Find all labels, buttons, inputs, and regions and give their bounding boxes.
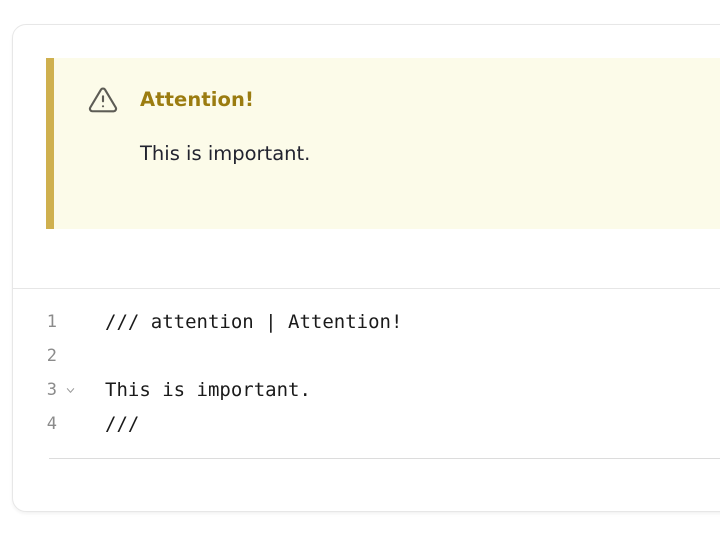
line-number: 4 — [47, 416, 57, 433]
code-block[interactable]: 1 /// attention | Attention! 2 3 — [13, 289, 720, 458]
line-number: 3 — [47, 382, 57, 399]
callout-title: Attention! — [140, 90, 254, 110]
code-line-text: /// — [83, 415, 720, 434]
code-line-row[interactable]: 1 /// attention | Attention! — [13, 305, 720, 339]
callout-text: This is important. — [140, 141, 720, 167]
line-gutter[interactable]: 3 — [13, 373, 83, 407]
preview-pane: Attention! This is important. — [13, 25, 720, 288]
code-line-row[interactable]: 3 This is important. — [13, 373, 720, 407]
line-gutter[interactable]: 1 — [13, 305, 83, 339]
code-line-text: This is important. — [83, 381, 720, 400]
line-number: 2 — [47, 348, 57, 365]
line-gutter[interactable]: 2 — [13, 339, 83, 373]
line-gutter[interactable]: 4 — [13, 407, 83, 441]
callout-body: Attention! This is important. — [54, 58, 720, 229]
callout-accent-bar — [46, 58, 54, 229]
line-number: 1 — [47, 314, 57, 331]
attention-callout: Attention! This is important. — [46, 58, 720, 229]
callout-header: Attention! — [88, 84, 720, 116]
markdown-callout-example-card: Attention! This is important. 1 /// atte… — [12, 24, 720, 512]
warning-triangle-icon — [88, 85, 118, 115]
code-block-bottom-divider — [49, 458, 720, 459]
code-line-row[interactable]: 4 /// — [13, 407, 720, 441]
code-line-text: /// attention | Attention! — [83, 313, 720, 332]
code-line-row[interactable]: 2 — [13, 339, 720, 373]
code-lines: 1 /// attention | Attention! 2 3 — [13, 305, 720, 441]
